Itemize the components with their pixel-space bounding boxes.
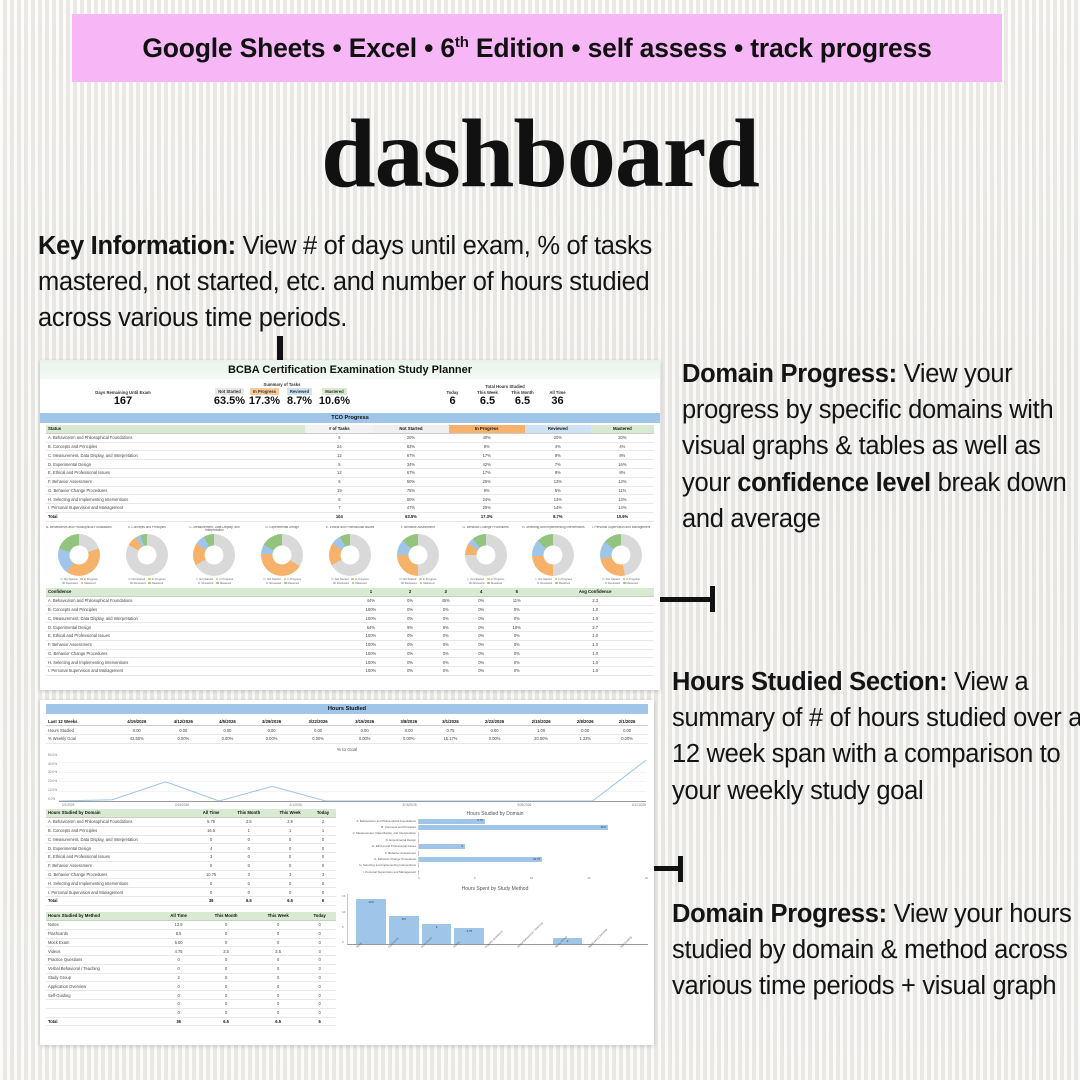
table-cell: 64% [348,623,395,632]
table-cell: 0% [426,649,465,658]
table-row[interactable]: G. Behavior-Change Procedures1975%9%5%11… [46,486,654,495]
header-banner: Google Sheets • Excel • 6th Edition • se… [72,14,1002,82]
task-status-cell: Mastered10.6% [319,388,351,408]
donut-chart [58,534,100,576]
table-cell: 1.0 [536,605,654,614]
table-header-cell: 3 [426,588,465,597]
bar-fill: 16.5 [419,825,608,830]
bar-track [418,863,648,868]
banner-ordinal-suffix: th [455,34,469,51]
table-cell: 20% [591,433,654,442]
domain-hours-header-row: Hours Studied by DomainAll TimeThis Mont… [46,809,336,818]
table-cell: 10.75 [195,870,228,879]
table-row[interactable]: Videos4.753.53.53 [46,947,336,956]
donut-chart [329,534,371,576]
x-tick-label: 20 [645,876,648,880]
table-cell [46,999,158,1008]
status-table[interactable]: Status# of TasksNot StartedIn ProgressRe… [46,425,654,522]
donut-legend-item: Mastered [81,582,96,585]
table-cell: 0.00 [207,726,249,735]
table-cell: 4% [525,442,591,451]
total-hours-value: 36 [551,395,563,408]
donut-chart-caption: H. Selecting and Implementing Interventi… [522,526,585,534]
table-header-cell: Not Started [373,425,448,434]
donut-legend-item: Reviewed [537,582,552,585]
table-cell: 0 [199,999,253,1008]
table-cell: 25% [449,477,525,486]
table-cell: 6.00 [158,938,199,947]
table-row[interactable]: A. Behaviorism and Philosophical Foundat… [46,596,654,605]
table-row[interactable]: Hours Studied0.000.000.000.000.000.000.0… [46,726,648,735]
table-cell: 0 [253,938,303,947]
table-header-cell: Mastered [591,425,654,434]
table-row[interactable]: 0000 [46,1008,336,1017]
table-cell: 1.0 [536,649,654,658]
table-cell: 0 [270,879,310,888]
table-cell: 0 [227,861,270,870]
goal-chart-y-axis: 50.0%40.0%30.0%20.0%10.0%0.0% [48,753,59,801]
domain-hours-body: A. Behaviorism and Philosophical Foundat… [46,817,336,905]
table-row[interactable]: 0000 [46,999,336,1008]
table-cell: 1.0 [536,667,654,676]
bar-value-label: 10.75 [533,857,540,861]
table-cell: D. Experimental Design [46,844,195,853]
table-cell: 9% [426,623,465,632]
table-cell: 0% [426,631,465,640]
table-cell: 24% [449,495,525,504]
table-cell: 8% [525,468,591,477]
x-tick-label: 2/15/2026 [175,803,189,807]
table-cell: 8.7% [525,512,591,521]
table-cell: 0% [426,658,465,667]
table-cell: 3 [227,870,270,879]
table-row[interactable]: I. Personal Supervision and Management74… [46,504,654,513]
task-status-cell: Not Started63.5% [214,388,246,408]
task-status-cell: Reviewed8.7% [284,388,316,408]
table-cell: 0.75 [430,726,472,735]
summary-of-tasks-label: Summary of Tasks [264,382,301,387]
table-cell: 1.0 [536,640,654,649]
table-row[interactable]: H. Selecting and Implementing Interventi… [46,495,654,504]
annotation-hours-studied-section: Hours Studied Section: View a summary of… [672,664,1080,809]
table-cell: A. Behaviorism and Philosophical Foundat… [46,817,195,826]
table-cell: Mock Exam [46,938,158,947]
table-cell: 0.00 [114,726,161,735]
table-cell: 2.5 [270,817,310,826]
bar-track [418,870,648,875]
table-cell: 2 [158,973,199,982]
table-cell: 44% [348,596,395,605]
donut-chart-cell: D. Experimental DesignNot StartedIn Prog… [249,526,315,585]
table-cell: 25% [449,504,525,513]
total-hours-value: 6 [449,395,455,408]
y-tick-label: 0 [342,940,345,944]
table-row[interactable]: F. Behavior Assessment0000 [46,861,336,870]
table-cell: 50% [373,495,448,504]
donut-chart [126,534,168,576]
table-cell: F. Behavior Assessment [46,861,195,870]
y-tick-label: 10 [342,910,345,914]
table-row[interactable]: H. Selecting and Implementing Interventi… [46,658,654,667]
table-cell: 0% [394,605,426,614]
table-cell: 8% [591,468,654,477]
table-row[interactable]: A. Behaviorism and Philosophical Foundat… [46,817,336,826]
table-cell: 0.00% [341,734,388,743]
donut-legend-item: In Progress [555,578,572,581]
hours-studied-band: Hours Studied [46,704,648,714]
table-cell: 0 [199,982,253,991]
table-cell: 2.3 [536,596,654,605]
table-row[interactable]: Application Overview0000 [46,982,336,991]
table-header-cell: 1 [348,588,395,597]
table-cell: 0 [199,964,253,973]
table-cell: 1.0 [536,658,654,667]
table-cell: Self-Guiding [46,991,158,1000]
table-cell: 3 [195,853,228,862]
weeks-header-cell: 2/15/2026 [518,717,565,726]
table-cell: 104 [305,512,373,521]
table-row[interactable]: E. Ethical and Professional Issues3000 [46,853,336,862]
table-row[interactable]: C. Measurement, Data Display, and Interp… [46,835,336,844]
table-cell: 0 [310,888,336,897]
total-hours-row: Today6This Week6.5This Month6.5All Time3… [437,390,574,408]
table-cell: 2.7 [536,623,654,632]
table-row[interactable]: B. Concepts and Principles16.5111 [46,826,336,835]
x-tick-label: 3/29/2026 [517,803,531,807]
table-header-cell: # of Tasks [305,425,373,434]
table-cell: 8.5 [158,929,199,938]
table-cell: B. Concepts and Principles [46,605,348,614]
goal-line-chart: % to Goal 50.0%40.0%30.0%20.0%10.0%0.0% … [40,744,654,809]
annotation-domain-progress-2: Domain Progress: View your hours studied… [672,896,1080,1005]
method-hours-table[interactable]: Hours Studied by MethodAll TimeThis Mont… [46,912,336,1027]
table-cell: 0% [394,614,426,623]
task-status-cell: In Progress17.3% [249,388,281,408]
task-status-chip: Reviewed [287,388,312,395]
weeks-header-cell: 2/8/2026 [564,717,606,726]
table-row[interactable]: C. Measurement, Data Display, and Interp… [46,614,654,623]
bar-chart-row: C. Measurement, Data Display, and Interp… [342,832,648,837]
table-cell: 0.00 [160,726,207,735]
table-row[interactable]: E. Ethical and Professional Issues100%0%… [46,631,654,640]
donut-chart-cell: H. Selecting and Implementing Interventi… [520,526,586,585]
table-header-cell: In Progress [449,425,525,434]
table-cell: 11% [497,596,536,605]
total-hours-value: 6.5 [515,395,530,408]
donut-chart [465,534,507,576]
table-cell: 13% [591,495,654,504]
bar-value-label: 5.75 [477,818,482,822]
table-cell: H. Selecting and Implementing Interventi… [46,658,348,667]
table-header-cell: All Time [195,809,228,818]
table-cell: 0 [310,879,336,888]
table-cell: 0% [465,649,497,658]
table-row[interactable]: H. Selecting and Implementing Interventi… [46,879,336,888]
domain-hours-table[interactable]: Hours Studied by DomainAll TimeThis Mont… [46,809,336,906]
task-status-chip: Not Started [215,388,244,395]
table-cell: 0% [426,667,465,676]
table-cell: 5 [305,433,373,442]
weeks-table[interactable]: Last 12 Weeks4/19/20264/12/20264/5/20263… [46,717,648,744]
table-row[interactable]: Study Group2000 [46,973,336,982]
bar-chart-row: F. Behavior Assessment [342,851,648,856]
donut-legend-item: Not Started [399,578,416,581]
table-cell: I. Personal Supervision and Management [46,504,305,513]
table-cell: I. Personal Supervision and Management [46,888,195,897]
table-cell: 0 [227,853,270,862]
goal-chart-plot [59,753,646,802]
table-row[interactable]: I. Personal Supervision and Management10… [46,667,654,676]
donut-legend: Not StartedIn ProgressReviewedMastered [259,578,305,585]
table-cell: 0% [426,605,465,614]
table-cell: D. Experimental Design [46,460,305,469]
table-cell: 1.0 [536,614,654,623]
bar-category-label: C. Measurement, Data Display, and Interp… [342,832,416,835]
table-header-cell: Today [303,912,336,921]
donut-legend-item: Mastered [216,582,231,585]
table-row[interactable]: G. Behavior-Change Procedures10.75333 [46,870,336,879]
donut-chart-caption: I. Personal Supervision and Management [592,526,650,534]
table-cell: 0 [253,991,303,1000]
table-cell: 13% [525,495,591,504]
table-cell: 8% [591,451,654,460]
table-cell: 7 [305,504,373,513]
table-cell: 4.75 [158,947,199,956]
table-cell: 0.00% [207,734,249,743]
table-row[interactable]: G. Behavior-Change Procedures100%0%0%0%0… [46,649,654,658]
table-row[interactable]: F. Behavior Assessment100%0%0%0%0%1.0 [46,640,654,649]
table-row[interactable]: B. Concepts and Principles2483%8%4%4% [46,442,654,451]
table-row[interactable]: D. Experimental Design64%9%9%0%18%2.7 [46,623,654,632]
bar-chart-row: G. Behavior-Change Procedures10.75 [342,857,648,862]
donut-legend: Not StartedIn ProgressReviewedMastered [395,578,441,585]
pointer-cap-hours-studied [678,856,683,882]
table-cell: 0 [199,920,253,929]
table-cell: 0 [158,982,199,991]
x-tick-label: 4/12/2026 [632,803,646,807]
table-cell: 0% [465,614,497,623]
donut-legend-item: Reviewed [605,582,620,585]
banner-text-part3: Edition • self assess • track progress [469,33,932,63]
bar-chart-row: D. Experimental Design [342,838,648,843]
weeks-header-cell: 3/8/2026 [388,717,430,726]
total-hours-cell: This Month6.5 [507,390,539,408]
table-row[interactable]: C. Measurement, Data Display, and Interp… [46,451,654,460]
spreadsheet-screenshot-hours-studied[interactable]: Hours Studied Last 12 Weeks4/19/20264/12… [40,700,654,1045]
page-title: dashboard [0,105,1080,203]
table-row[interactable]: Notes13.5000 [46,920,336,929]
annotation-domain-progress-1-emphasis: confidence level [737,469,931,497]
table-cell: 10.6% [591,512,654,521]
spreadsheet-screenshot-dashboard[interactable]: BCBA Certification Examination Study Pla… [40,360,660,690]
donut-legend-item: Mastered [284,582,299,585]
table-cell: G. Behavior-Change Procedures [46,486,305,495]
table-cell: % Weekly Goal [46,734,114,743]
table-row[interactable]: B. Concepts and Principles100%0%0%0%0%1.… [46,605,654,614]
annotation-key-information: Key Information: View # of days until ex… [38,228,728,337]
table-cell: 3 [310,870,336,879]
spreadsheet-title: BCBA Certification Examination Study Pla… [40,360,660,379]
bar-track: 10.75 [418,857,648,862]
bar-track: 4 [418,844,648,849]
bar-category-label: B. Concepts and Principles [342,826,416,829]
bar-category-label: F. Behavior Assessment [342,852,416,855]
bar-chart-row: A. Behaviorism and Philosophical Foundat… [342,819,648,824]
table-cell: 0% [465,667,497,676]
table-cell: 0% [426,640,465,649]
table-cell: 6.5 [270,896,310,905]
bar-fill: 4 [419,844,465,849]
total-hours-studied-label: Total Hours Studied [485,384,524,389]
table-cell: 0 [158,999,199,1008]
table-cell: 0 [199,991,253,1000]
donut-legend: Not StartedIn ProgressReviewedMastered [191,578,237,585]
donut-chart [193,534,235,576]
table-cell: C. Measurement, Data Display, and Interp… [46,451,305,460]
annotation-domain-progress-2-label: Domain Progress: [672,900,887,928]
weeks-header-cell: 3/29/2026 [248,717,295,726]
table-cell: 0 [195,879,228,888]
x-tick-label: 15 [587,876,590,880]
table-row[interactable]: D. Experimental Design534%42%7%16% [46,460,654,469]
bar-category-label: H. Selecting and Implementing Interventi… [342,864,416,867]
table-cell: 0 [253,999,303,1008]
table-cell: 0.00% [248,734,295,743]
table-row[interactable]: E. Ethical and Professional Issues1267%1… [46,468,654,477]
table-row[interactable]: Practice Questions0000 [46,956,336,965]
table-cell: 19 [305,486,373,495]
table-cell: 0% [497,605,536,614]
confidence-table-header-row: Confidence12345Avg Confidence [46,588,654,597]
table-cell: 0 [158,991,199,1000]
table-row[interactable]: Flashcards8.5000 [46,929,336,938]
table-cell: 0% [497,649,536,658]
table-header-cell: Confidence [46,588,348,597]
table-cell: Application Overview [46,982,158,991]
method-bar-chart-x-labels: NotesFlashcardsMock ExamVideosPractice Q… [347,946,648,962]
table-row[interactable]: Self-Guiding0000 [46,991,336,1000]
bar-track [418,832,648,837]
x-tick-label: 3/1/2026 [290,803,302,807]
table-cell: 17% [449,451,525,460]
table-cell: 1.0 [536,631,654,640]
table-cell: H. Selecting and Implementing Interventi… [46,495,305,504]
donut-legend-item: Not Started [467,578,484,581]
donut-legend-item: Not Started [128,578,145,581]
table-cell: 1.33% [564,734,606,743]
table-cell: 0 [310,853,336,862]
donut-legend-item: Mastered [623,582,638,585]
x-tick-label: 5 [474,876,476,880]
table-cell: 13.5 [158,920,199,929]
table-cell: 0 [303,991,336,1000]
donut-legend-item: In Progress [487,578,504,581]
x-tick-label: 2/1/2026 [62,803,74,807]
table-header-cell: This Week [253,912,303,921]
table-row[interactable]: D. Experimental Design4000 [46,844,336,853]
donut-legend: Not StartedIn ProgressReviewedMastered [124,578,170,585]
table-cell [46,1008,158,1017]
table-cell: 100% [348,658,395,667]
table-cell: 6 [305,477,373,486]
table-cell: 0 [270,853,310,862]
table-cell: G. Behavior-Change Procedures [46,649,348,658]
table-cell: Total [46,896,195,905]
task-status-value: 8.7% [287,395,312,408]
table-cell: 100% [348,640,395,649]
bar-chart-row: E. Ethical and Professional Issues4 [342,844,648,849]
table-row[interactable]: I. Personal Supervision and Management00… [46,888,336,897]
table-cell: 0% [465,640,497,649]
table-row[interactable]: A. Behaviorism and Philosophical Foundat… [46,433,654,442]
y-tick-label: 15 [342,894,345,898]
donut-legend: Not StartedIn ProgressReviewedMastered [530,578,576,585]
tco-progress-band: TCO Progress [40,413,660,423]
table-cell: 0.00 [295,726,342,735]
table-cell: 40% [449,433,525,442]
bar-track [418,851,648,856]
table-header-cell: This Month [199,912,253,921]
table-cell: 15.17% [430,734,472,743]
table-cell: 2.5 [227,817,270,826]
donut-legend-item: Mastered [352,582,367,585]
donut-chart [397,534,439,576]
table-row[interactable]: % Weekly Goal42.50%0.00%0.00%0.00%0.00%0… [46,734,648,743]
table-cell: 0.00% [160,734,207,743]
table-cell: 6.5 [227,896,270,905]
summary-strip: Days Remaining Until Exam 167 Summary of… [40,379,660,413]
table-row[interactable]: Mock Exam6.00000 [46,938,336,947]
table-cell: 67% [373,468,448,477]
donut-chart-cell: A. Behaviorism and Philosophical Foundat… [46,526,112,585]
donut-legend-item: Reviewed [62,582,77,585]
table-cell: 0% [465,631,497,640]
table-cell: A. Behaviorism and Philosophical Foundat… [46,433,305,442]
y-tick-label: 20.0% [48,779,57,783]
table-cell: 0% [394,596,426,605]
table-cell: 8 [305,495,373,504]
table-cell: 0 [158,1008,199,1017]
table-cell: C. Measurement, Data Display, and Interp… [46,835,195,844]
task-status-value: 63.5% [214,395,245,408]
table-cell: 100% [348,631,395,640]
bar-chart-row: I. Personal Supervision and Management [342,870,648,875]
table-cell: 0 [270,844,310,853]
table-header-cell: Hours Studied by Method [46,912,158,921]
domain-bar-chart-title: Hours Studied by Domain [342,811,648,817]
x-tick-label: 3/15/2026 [402,803,416,807]
y-tick-label: 0.0% [48,797,57,801]
weeks-table-header-row: Last 12 Weeks4/19/20264/12/20264/5/20263… [46,717,648,726]
table-row[interactable]: Verbal Behavioral / Teaching0003 [46,964,336,973]
weeks-header-cell: 4/12/2026 [160,717,207,726]
table-cell: 0% [426,614,465,623]
table-cell: 0 [253,929,303,938]
confidence-table[interactable]: Confidence12345Avg Confidence A. Behavio… [46,588,654,676]
y-tick-label: 40.0% [48,762,57,766]
table-cell: 0 [227,835,270,844]
donut-chart-cell: F. Behavior AssessmentNot StartedIn Prog… [385,526,451,585]
table-cell: 0 [303,956,336,965]
table-cell: 3.5 [253,947,303,956]
table-cell: 0% [394,649,426,658]
status-table-body: A. Behaviorism and Philosophical Foundat… [46,433,654,521]
y-tick-label: 10.0% [48,788,57,792]
table-cell: 100% [348,667,395,676]
table-row[interactable]: F. Behavior Assessment650%25%13%13% [46,477,654,486]
task-status-chip: Mastered [322,388,346,395]
table-cell: 0 [253,973,303,982]
